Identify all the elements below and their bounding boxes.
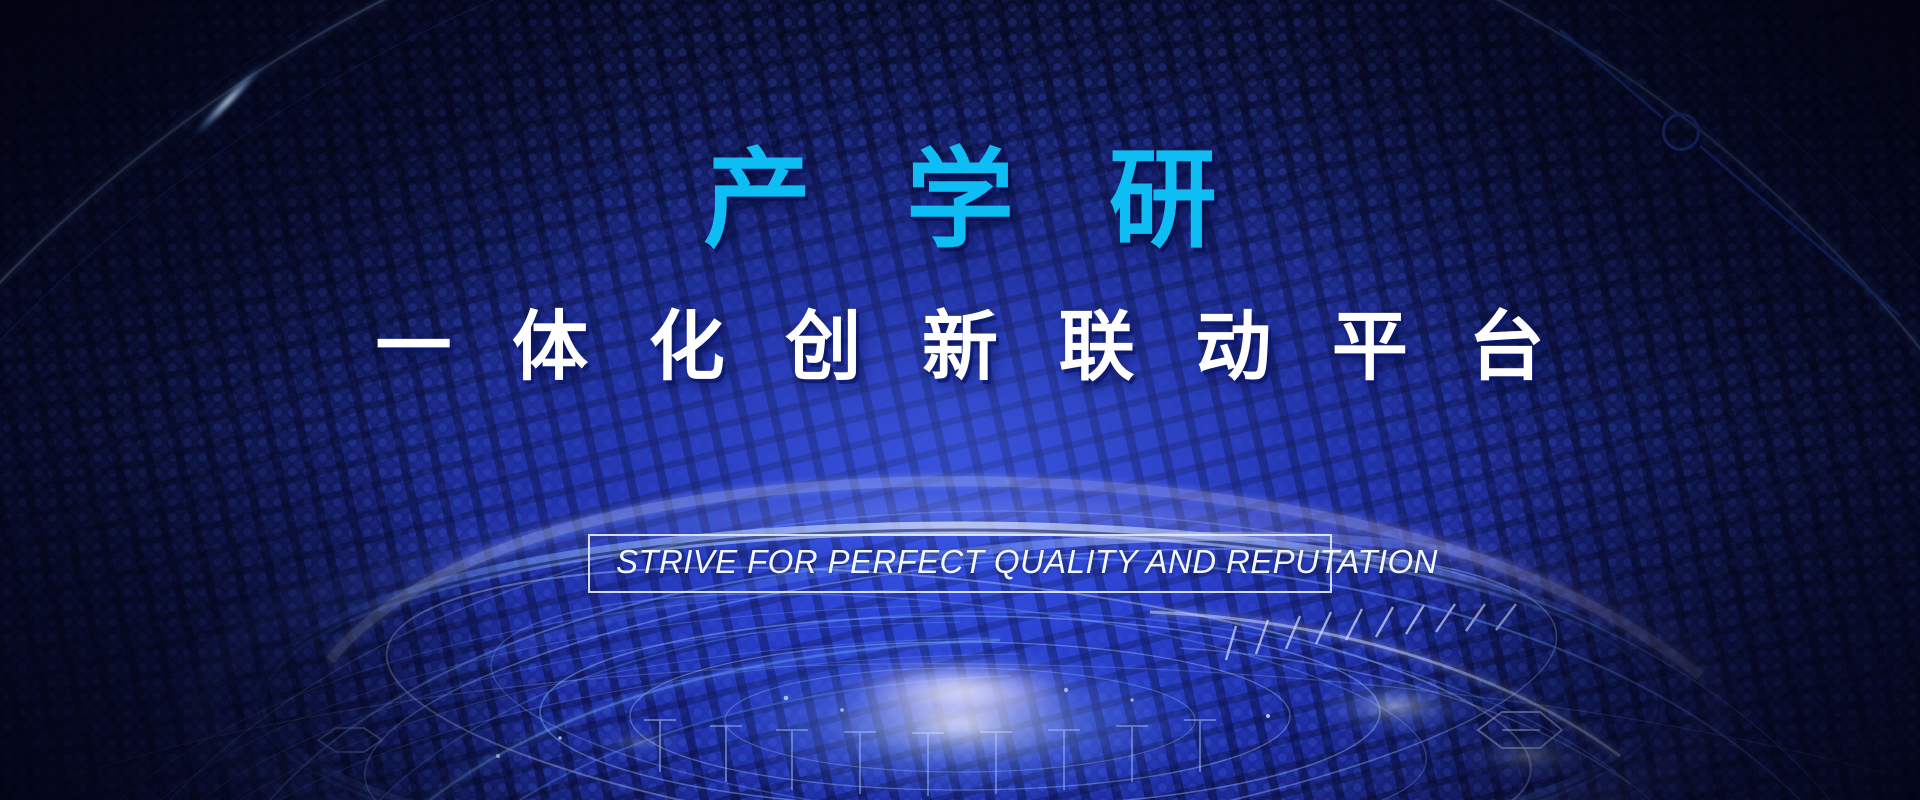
- hero-banner: 产 学 研 一 体 化 创 新 联 动 平 台 STRIVE FOR PERFE…: [0, 0, 1920, 800]
- vignette: [0, 0, 1920, 800]
- slogan-box: STRIVE FOR PERFECT QUALITY AND REPUTATIO…: [588, 534, 1332, 593]
- banner-slogan: STRIVE FOR PERFECT QUALITY AND REPUTATIO…: [616, 543, 1304, 582]
